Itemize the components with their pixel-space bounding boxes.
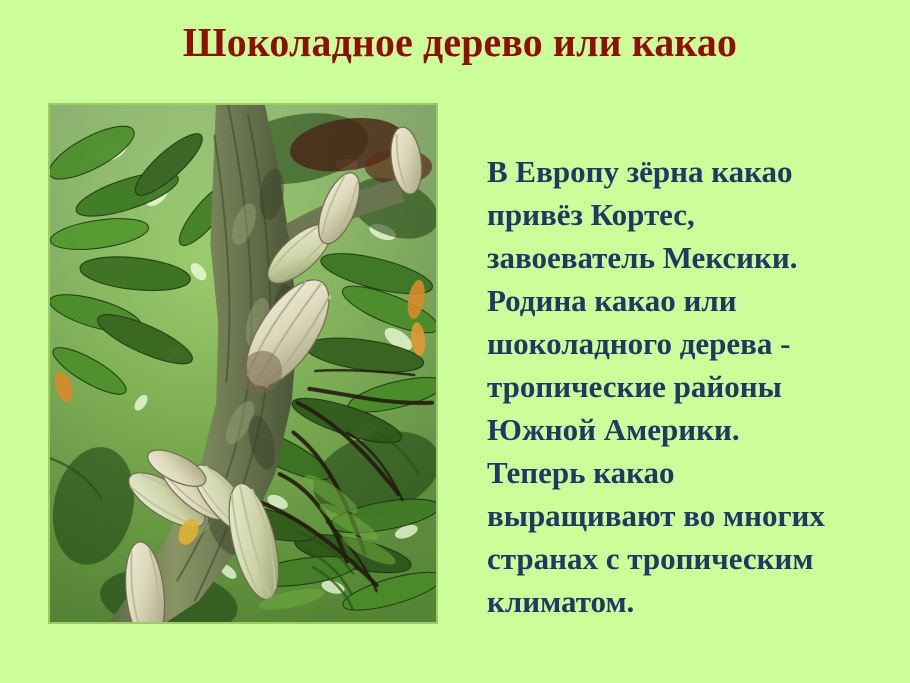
body-line: выращивают во многих [487, 494, 859, 537]
cacao-tree-photo [50, 105, 436, 622]
body-line: привёз Кортес, [487, 193, 859, 236]
body-line: шоколадного дерева - [487, 322, 859, 365]
photo-frame [48, 103, 438, 624]
body-line: Теперь какао [487, 451, 859, 494]
body-line: странах с тропическим [487, 537, 859, 580]
body-line: В Европу зёрна какао [487, 150, 859, 193]
body-line: завоеватель Мексики. [487, 236, 859, 279]
body-line: Южной Америки. [487, 408, 859, 451]
body-line: Родина какао или [487, 279, 859, 322]
slide-canvas: Шоколадное дерево или какао [0, 0, 910, 683]
body-paragraph: В Европу зёрна какао привёз Кортес, заво… [487, 150, 859, 623]
body-line: тропические районы [487, 365, 859, 408]
page-title: Шоколадное дерево или какао [72, 18, 848, 66]
body-line: климатом. [487, 580, 859, 623]
